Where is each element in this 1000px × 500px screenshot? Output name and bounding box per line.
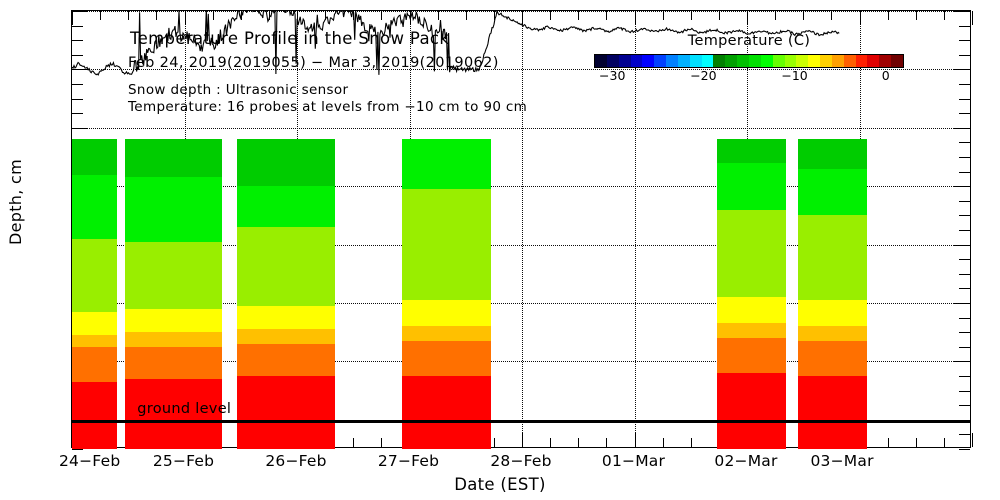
colorbar-segment [832, 55, 844, 67]
x-tick-label: 28−Feb [490, 452, 551, 470]
colorbar-tick-label: −20 [690, 68, 716, 83]
y-axis-title: Depth, cm [6, 159, 25, 245]
annotation-snow-depth: Snow depth : Ultrasonic sensor [128, 82, 348, 98]
x-tick-label: 02−Mar [714, 452, 777, 470]
colorbar-segment [607, 55, 619, 67]
snow-depth-trace [72, 11, 972, 449]
colorbar-segment [879, 55, 891, 67]
colorbar-segment [820, 55, 832, 67]
colorbar-segment [595, 55, 607, 67]
colorbar-segment [761, 55, 773, 67]
colorbar-segment [690, 55, 702, 67]
colorbar-segment [844, 55, 856, 67]
chart-subtitle: Feb 24, 2019(2019055) − Mar 3, 2019(2019… [128, 55, 499, 71]
colorbar-segment [773, 55, 785, 67]
colorbar [594, 54, 904, 68]
colorbar-segment [654, 55, 666, 67]
colorbar-tick-label: −30 [599, 68, 625, 83]
x-tick-label: 24−Feb [59, 452, 120, 470]
colorbar-segment [678, 55, 690, 67]
x-tick-bottom [972, 433, 973, 447]
chart-title: Temperature Profile in the Snow Pack [130, 29, 449, 48]
ground-level-line [72, 420, 970, 423]
x-tick-label: 26−Feb [265, 452, 326, 470]
annotation-temperature-probes: Temperature: 16 probes at levels from −1… [128, 99, 527, 115]
colorbar-segment [631, 55, 643, 67]
colorbar-segment [785, 55, 797, 67]
colorbar-segment [725, 55, 737, 67]
colorbar-segment [808, 55, 820, 67]
colorbar-segment [702, 55, 714, 67]
colorbar-title: Temperature (C) [594, 33, 904, 49]
colorbar-segment [749, 55, 761, 67]
colorbar-segment [619, 55, 631, 67]
x-axis-title: Date (EST) [0, 475, 1000, 494]
y-tick-left [72, 449, 83, 450]
x-tick-label: 27−Feb [378, 452, 439, 470]
colorbar-tick-label: −10 [781, 68, 807, 83]
x-tick-label: 01−Mar [602, 452, 665, 470]
colorbar-segment [856, 55, 868, 67]
colorbar-segment [737, 55, 749, 67]
plot-area: ground level [71, 10, 971, 448]
colorbar-segment [713, 55, 725, 67]
colorbar-segment [666, 55, 678, 67]
colorbar-segment [642, 55, 654, 67]
x-tick-top [972, 11, 973, 25]
y-tick-right [959, 449, 970, 450]
colorbar-segment [867, 55, 879, 67]
x-tick-label: 03−Mar [811, 452, 874, 470]
chart-canvas: Depth, cm Date (EST) 140120100806040200 … [0, 0, 1000, 500]
colorbar-tick-label: 0 [882, 68, 890, 83]
colorbar-segment [891, 55, 903, 67]
x-tick-label: 25−Feb [153, 452, 214, 470]
colorbar-segment [796, 55, 808, 67]
ground-level-label: ground level [137, 401, 231, 417]
